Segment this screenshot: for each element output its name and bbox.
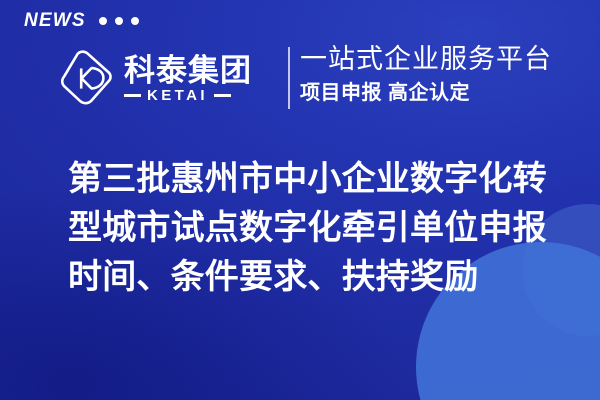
brand-divider — [288, 47, 290, 109]
news-kicker-dots-icon — [99, 17, 139, 25]
brand-wordmark: 科泰集团 KETAI — [124, 53, 252, 103]
brand-name-cn: 科泰集团 — [124, 55, 252, 87]
banner-headline: 第三批惠州市中小企业数字化转型城市试点数字化牵引单位申报时间、条件要求、扶持奖励 — [68, 155, 568, 302]
news-banner: NEWS 科泰集团 KETAI — [0, 0, 600, 400]
tagline-block: 一站式企业服务平台 项目申报 高企认定 — [300, 44, 552, 104]
tagline-secondary: 项目申报 高企认定 — [300, 82, 552, 104]
wordmark-rule-right — [214, 94, 231, 97]
brand-name-en: KETAI — [147, 88, 208, 103]
tagline-primary: 一站式企业服务平台 — [300, 44, 552, 74]
news-kicker: NEWS — [24, 11, 139, 30]
brand-lockup: 科泰集团 KETAI — [58, 45, 252, 111]
brand-name-en-row: KETAI — [124, 88, 252, 103]
news-kicker-label: NEWS — [24, 11, 86, 30]
ketai-diamond-monogram-icon — [58, 48, 116, 108]
wordmark-rule-left — [124, 94, 141, 97]
